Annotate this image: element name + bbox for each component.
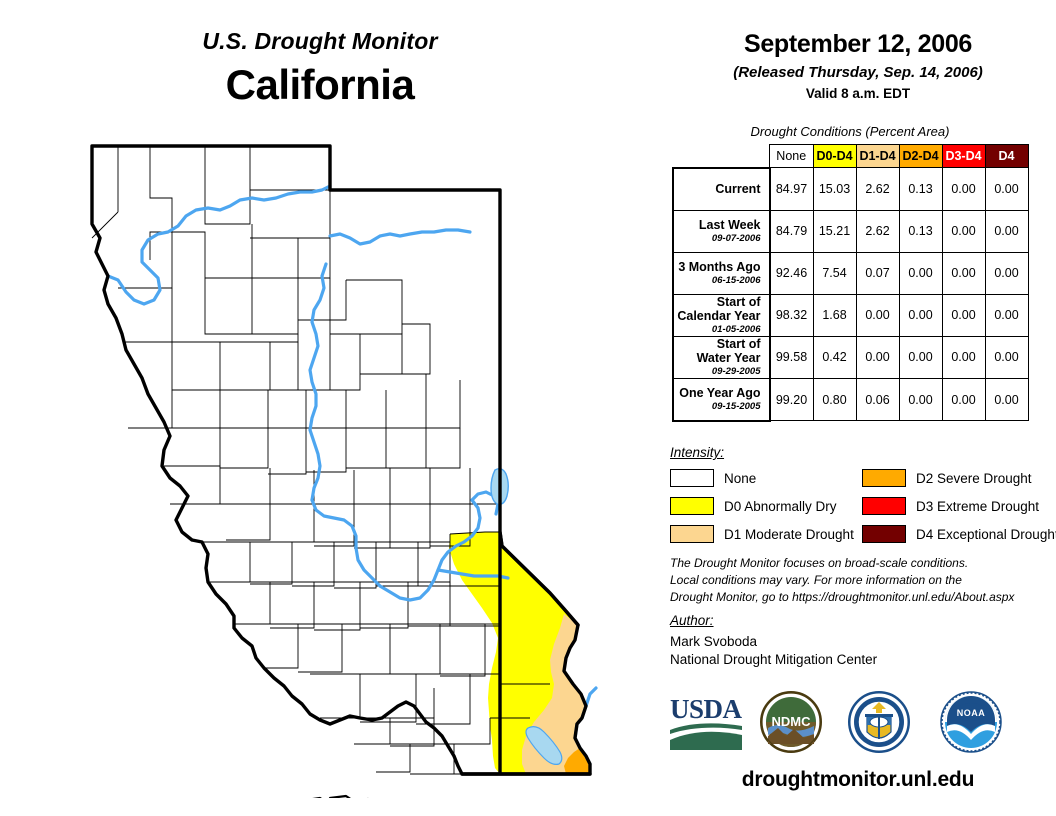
state-title: California [0, 61, 640, 109]
ndmc-logo: NDMC [758, 690, 824, 759]
row-label-text: One Year Ago [674, 386, 761, 400]
disclaimer-line-1: The Drought Monitor focuses on broad-sca… [670, 555, 1050, 572]
table-cell-d2-d4: 0.00 [899, 336, 942, 378]
table-cell-d0-d4: 0.80 [813, 378, 856, 421]
table-cell-none: 92.46 [770, 252, 814, 294]
row-label: One Year Ago09-15-2005 [673, 378, 770, 421]
table-cell-d4: 0.00 [985, 252, 1028, 294]
row-label-date: 06-15-2006 [674, 275, 761, 286]
legend-label: D4 Exceptional Drought [916, 527, 1056, 542]
row-label-date: 01-05-2006 [674, 324, 761, 335]
legend-swatch [862, 469, 906, 487]
table-cell-d1-d4: 2.62 [856, 210, 899, 252]
noaa-logo: NOAA [938, 690, 1004, 759]
table-cell-none: 99.20 [770, 378, 814, 421]
legend-swatch [670, 497, 714, 515]
column-header-none: None [770, 145, 814, 168]
website-url[interactable]: droughtmonitor.unl.edu [660, 768, 1056, 792]
table-caption: Drought Conditions (Percent Area) [660, 124, 1040, 139]
table-header-row: None D0-D4 D1-D4 D2-D4 D3-D4 D4 [673, 145, 1028, 168]
partner-logos: USDA NDMC [660, 690, 1056, 768]
table-cell-d1-d4: 0.06 [856, 378, 899, 421]
legend-column-right: D2 Severe DroughtD3 Extreme DroughtD4 Ex… [862, 466, 1056, 550]
table-cell-d4: 0.00 [985, 294, 1028, 336]
table-cell-d4: 0.00 [985, 168, 1028, 211]
table-cell-d2-d4: 0.13 [899, 168, 942, 211]
column-header-d3-d4: D3-D4 [942, 145, 985, 168]
svg-text:NOAA: NOAA [957, 708, 986, 718]
legend-swatch [670, 469, 714, 487]
row-label-text: Start ofCalendar Year [674, 295, 761, 324]
table-cell-d0-d4: 15.21 [813, 210, 856, 252]
table-cell-d0-d4: 0.42 [813, 336, 856, 378]
row-label: Start ofCalendar Year01-05-2006 [673, 294, 770, 336]
table-row: Start ofCalendar Year01-05-200698.321.68… [673, 294, 1028, 336]
table-body: Current84.9715.032.620.130.000.00Last We… [673, 168, 1028, 421]
table-cell-d3-d4: 0.00 [942, 210, 985, 252]
table-cell-d3-d4: 0.00 [942, 168, 985, 211]
table-cell-d1-d4: 0.00 [856, 294, 899, 336]
row-label-date: 09-29-2005 [674, 366, 761, 377]
table-row: Start ofWater Year09-29-200599.580.420.0… [673, 336, 1028, 378]
row-label: Last Week09-07-2006 [673, 210, 770, 252]
legend-item: D3 Extreme Drought [862, 494, 1056, 518]
table-cell-d0-d4: 7.54 [813, 252, 856, 294]
usda-logo: USDA [668, 690, 744, 757]
legend-swatch [862, 525, 906, 543]
row-label-text: 3 Months Ago [674, 260, 761, 274]
table-cell-d3-d4: 0.00 [942, 378, 985, 421]
legend-item: D2 Severe Drought [862, 466, 1056, 490]
legend-item: None [670, 466, 854, 490]
legend-label: D2 Severe Drought [916, 471, 1032, 486]
row-label-date: 09-07-2006 [674, 233, 761, 244]
row-label: Current [673, 168, 770, 211]
table-cell-none: 99.58 [770, 336, 814, 378]
release-date: (Released Thursday, Sep. 14, 2006) [660, 64, 1056, 81]
row-label-date: 09-15-2005 [674, 401, 761, 412]
table-cell-d2-d4: 0.00 [899, 378, 942, 421]
svg-text:USDA: USDA [670, 694, 743, 724]
legend-swatch [862, 497, 906, 515]
table-cell-d3-d4: 0.00 [942, 336, 985, 378]
row-label-text: Last Week [674, 218, 761, 232]
legend-item: D1 Moderate Drought [670, 522, 854, 546]
author-name: Mark Svoboda [670, 634, 757, 649]
table-cell-none: 98.32 [770, 294, 814, 336]
info-panel: September 12, 2006 (Released Thursday, S… [660, 0, 1056, 816]
row-label-text: Start ofWater Year [674, 337, 761, 366]
legend-column-left: NoneD0 Abnormally DryD1 Moderate Drought [670, 466, 854, 550]
table-cell-d2-d4: 0.00 [899, 294, 942, 336]
column-header-d2-d4: D2-D4 [899, 145, 942, 168]
legend-title: Intensity: [670, 445, 724, 460]
page-title: U.S. Drought Monitor [0, 28, 640, 55]
column-header-d1-d4: D1-D4 [856, 145, 899, 168]
table-cell-d3-d4: 0.00 [942, 252, 985, 294]
legend-item: D4 Exceptional Drought [862, 522, 1056, 546]
table-cell-d4: 0.00 [985, 336, 1028, 378]
table-cell-d4: 0.00 [985, 210, 1028, 252]
disclaimer-line-3: Drought Monitor, go to https://droughtmo… [670, 589, 1050, 606]
channel-islands [306, 796, 412, 798]
title-block: U.S. Drought Monitor California [0, 28, 640, 109]
table-cell-d1-d4: 0.07 [856, 252, 899, 294]
svg-text:NDMC: NDMC [772, 714, 812, 729]
row-label-text: Current [674, 182, 761, 196]
disclaimer-line-2: Local conditions may vary. For more info… [670, 572, 1050, 589]
legend-swatch [670, 525, 714, 543]
map-svg [30, 128, 640, 798]
table-cell-d1-d4: 0.00 [856, 336, 899, 378]
legend-label: D3 Extreme Drought [916, 499, 1039, 514]
legend-label: None [724, 471, 756, 486]
table-row: Current84.9715.032.620.130.000.00 [673, 168, 1028, 211]
table-header: None D0-D4 D1-D4 D2-D4 D3-D4 D4 [673, 145, 1028, 168]
legend-label: D0 Abnormally Dry [724, 499, 837, 514]
author-heading: Author: [670, 613, 714, 628]
disclaimer-text: The Drought Monitor focuses on broad-sca… [670, 555, 1050, 606]
issue-date: September 12, 2006 [660, 30, 1056, 59]
us-department-of-commerce-seal [846, 690, 912, 759]
table-cell-none: 84.97 [770, 168, 814, 211]
legend-item: D0 Abnormally Dry [670, 494, 854, 518]
table-cell-d2-d4: 0.13 [899, 210, 942, 252]
table-cell-d3-d4: 0.00 [942, 294, 985, 336]
row-label: 3 Months Ago06-15-2006 [673, 252, 770, 294]
column-header-d4: D4 [985, 145, 1028, 168]
california-drought-map[interactable] [30, 128, 640, 798]
county-boundaries [92, 146, 550, 774]
drought-conditions-table: None D0-D4 D1-D4 D2-D4 D3-D4 D4 Current8… [672, 144, 1029, 422]
valid-time: Valid 8 a.m. EDT [660, 86, 1056, 101]
table-cell-none: 84.79 [770, 210, 814, 252]
table-cell-d4: 0.00 [985, 378, 1028, 421]
table-cell-d0-d4: 1.68 [813, 294, 856, 336]
row-label: Start ofWater Year09-29-2005 [673, 336, 770, 378]
table-row: 3 Months Ago06-15-200692.467.540.070.000… [673, 252, 1028, 294]
column-header-d0-d4: D0-D4 [813, 145, 856, 168]
author-organization: National Drought Mitigation Center [670, 652, 877, 667]
table-cell-d2-d4: 0.00 [899, 252, 942, 294]
date-block: September 12, 2006 (Released Thursday, S… [660, 30, 1056, 101]
table-row: Last Week09-07-200684.7915.212.620.130.0… [673, 210, 1028, 252]
legend-label: D1 Moderate Drought [724, 527, 854, 542]
map-panel: U.S. Drought Monitor California [0, 0, 660, 816]
table-row: One Year Ago09-15-200599.200.800.060.000… [673, 378, 1028, 421]
table-cell-d0-d4: 15.03 [813, 168, 856, 211]
table-corner-cell [673, 145, 770, 168]
table-cell-d1-d4: 2.62 [856, 168, 899, 211]
